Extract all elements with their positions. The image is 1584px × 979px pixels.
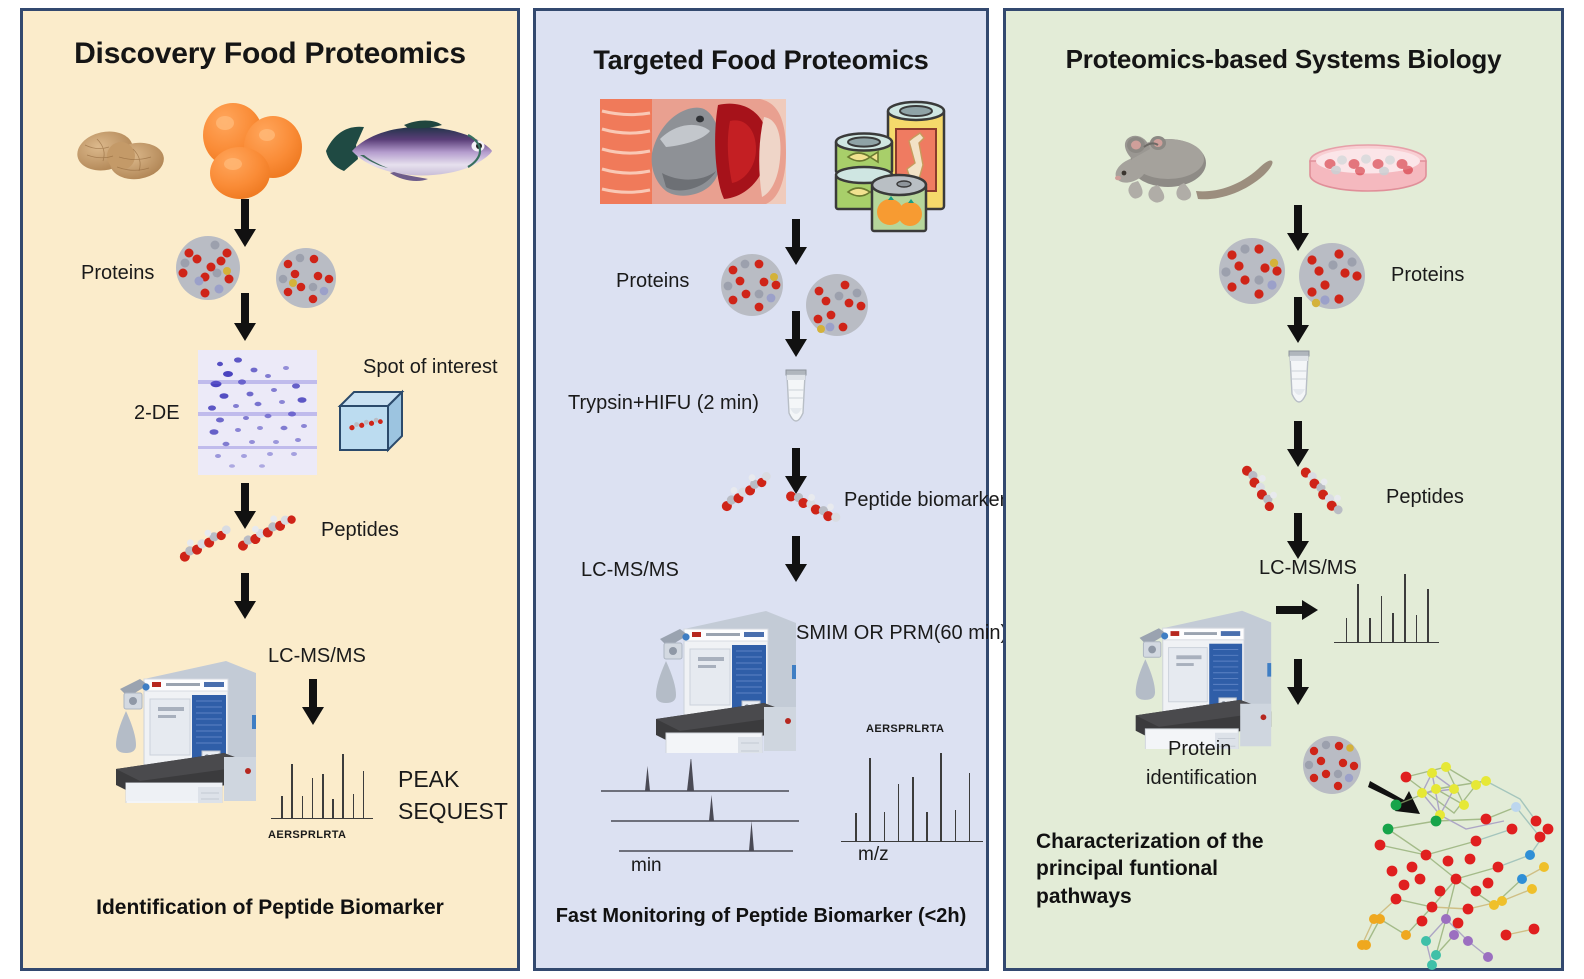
peptide-chain-icon: [175, 519, 237, 572]
spectrum-peak: [855, 813, 857, 841]
spot-cube-icon: [336, 388, 406, 459]
panel-targeted-food-proteomics: Targeted Food Proteomics: [533, 8, 989, 971]
spectrum-peak: [884, 812, 886, 841]
panel-title-discovery: Discovery Food Proteomics: [23, 37, 517, 72]
peptide-chain-icon: [782, 481, 848, 542]
spectrum-peak: [322, 774, 324, 818]
label-axis-min: min: [631, 855, 662, 877]
panel-footer-systems: Characterization of the principal funtio…: [1036, 828, 1276, 910]
eppendorf-tube-icon: [1282, 349, 1316, 426]
arrow-peptides-to-lcmsms: [231, 573, 259, 621]
salmon-fish-icon: [318, 115, 498, 192]
label-peptide-biomarker: Peptide biomarker: [844, 489, 1006, 512]
spectrum-peak: [1369, 618, 1371, 642]
panel-footer-targeted: Fast Monitoring of Peptide Biomarker (<2…: [536, 904, 986, 928]
arrow-lcmsms-to-spectrum: [299, 679, 327, 727]
spectrum-peak: [926, 812, 928, 841]
label-trypsin-hifu: Trypsin+HIFU (2 min): [568, 392, 759, 415]
spectrum-peak: [342, 754, 344, 818]
protein-blob-icon: [716, 249, 788, 326]
peptide-chain-icon: [716, 466, 778, 521]
chromatogram-icon: [601, 759, 801, 854]
spectrum-axis: [1334, 642, 1439, 644]
arrow-proteins-to-tube: [1284, 297, 1312, 345]
label-lcmsms-discovery: LC-MS/MS: [268, 645, 366, 668]
arrow-proteins-to-digestion: [782, 311, 810, 359]
label-peptide-sequence-discovery: AERSPRLRTA: [268, 829, 346, 841]
pathway-network-icon: [1336, 759, 1564, 979]
spectrum-peak: [291, 764, 293, 818]
mass-spectrum-icon: [271, 751, 373, 819]
spectrum-peak: [332, 799, 334, 818]
panel-title-targeted: Targeted Food Proteomics: [536, 45, 986, 76]
canned-food-icon: [828, 97, 953, 242]
arrow-peptides-to-lcmsms: [1284, 513, 1312, 561]
label-axis-mz: m/z: [858, 844, 889, 866]
peptide-chain-icon: [1232, 459, 1288, 528]
spectrum-peak: [302, 796, 304, 818]
label-2de: 2-DE: [134, 402, 180, 425]
label-proteins-discovery: Proteins: [81, 262, 154, 285]
label-peptides-discovery: Peptides: [321, 519, 399, 542]
spectrum-peak: [1392, 613, 1394, 642]
spectrum-peak: [1416, 615, 1418, 642]
spectrum-peak: [1357, 584, 1359, 642]
mass-spectrum-icon: [1334, 571, 1439, 643]
label-protein-identification-line2: identification: [1146, 767, 1257, 790]
label-software-sequest: SEQUEST: [398, 798, 508, 825]
spectrum-peak: [1346, 618, 1348, 642]
mass-spectrum-icon: [841, 746, 983, 842]
peptide-chain-icon: [233, 507, 299, 560]
label-peptides-systems: Peptides: [1386, 486, 1464, 509]
mouse-icon: [1114, 129, 1274, 210]
spectrum-peak: [1427, 589, 1429, 642]
spectrum-peak: [955, 810, 957, 841]
label-software-peak: PEAK: [398, 766, 459, 793]
panel-footer-discovery: Identification of Peptide Biomarker: [23, 895, 517, 920]
spectrum-peak: [969, 773, 971, 841]
mass-spectrometer-icon: [646, 581, 801, 758]
arrow-to-protein-identification: [1284, 659, 1312, 707]
label-spot-of-interest: Spot of interest: [363, 356, 498, 379]
arrow-to-spectrum: [1276, 599, 1320, 621]
label-protein-identification-line1: Protein: [1168, 738, 1231, 761]
spectrum-peak: [281, 796, 283, 818]
spectrum-peak: [363, 771, 365, 818]
arrow-peptide-to-lcmsms: [782, 536, 810, 584]
label-lcmsms-targeted: LC-MS/MS: [581, 559, 679, 582]
protein-blob-icon: [271, 243, 341, 318]
panel-discovery-food-proteomics: Discovery Food Proteomics: [20, 8, 520, 971]
mass-spectrometer-icon: [106, 631, 261, 808]
spectrum-peak: [940, 753, 942, 841]
panel-proteomics-systems-biology: Proteomics-based Systems Biology: [1003, 8, 1564, 971]
spectrum-peak: [1404, 574, 1406, 642]
spectrum-peak: [312, 778, 314, 818]
arrow-proteins-to-2de: [231, 293, 259, 343]
label-proteins-systems: Proteins: [1391, 264, 1464, 287]
protein-blob-icon: [801, 269, 873, 346]
mass-spectrometer-icon: [1126, 581, 1276, 754]
panel-title-systems: Proteomics-based Systems Biology: [1006, 45, 1561, 75]
raw-meat-fish-photo: [600, 99, 786, 209]
spectrum-peak: [353, 794, 355, 818]
petri-dish-icon: [1306, 139, 1431, 206]
label-acquisition-mode: SMIM OR PRM(60 min): [796, 622, 1007, 645]
spectrum-peak: [912, 777, 914, 841]
protein-blob-icon: [1214, 233, 1290, 314]
figure-root: Discovery Food Proteomics: [0, 0, 1584, 979]
label-proteins-targeted: Proteins: [616, 270, 689, 293]
spectrum-peak: [898, 784, 900, 841]
two-de-gel-icon: [198, 350, 317, 480]
peanut-icon: [73, 119, 169, 192]
eggs-icon: [193, 101, 309, 206]
spectrum-peak: [1381, 596, 1383, 642]
spectrum-peak: [869, 758, 871, 841]
label-peptide-sequence-targeted: AERSPRLRTA: [866, 723, 944, 735]
eppendorf-tube-icon: [779, 368, 813, 445]
